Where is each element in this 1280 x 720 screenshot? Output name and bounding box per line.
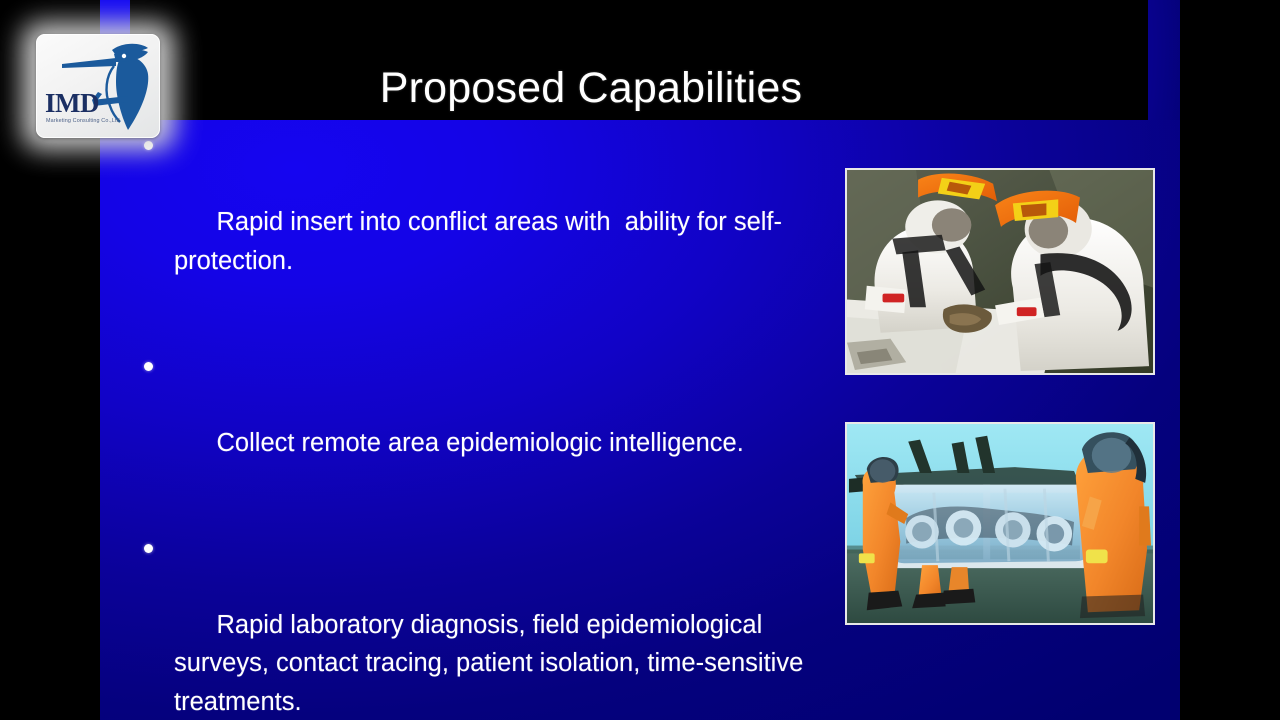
list-item-text: Rapid laboratory diagnosis, field epidem… (174, 611, 810, 716)
list-item-text: Collect remote area epidemiologic intell… (217, 429, 744, 457)
photo-field-lab-image (847, 170, 1153, 373)
bullet-dot-icon (144, 544, 153, 553)
bullet-dot-icon (144, 362, 153, 371)
photo-patient-transport (845, 422, 1155, 625)
logo-tagline: Marketing Consulting Co.,Ltd (46, 118, 120, 124)
capabilities-bullet-list: Rapid insert into conflict areas with ab… (122, 126, 832, 720)
presentation-slide: Proposed Capabilities Rapid insert into … (0, 0, 1280, 720)
photo-patient-transport-image (847, 424, 1153, 623)
list-item: Rapid insert into conflict areas with ab… (122, 126, 832, 319)
list-item-text: Rapid insert into conflict areas with ab… (174, 208, 782, 275)
list-item: Rapid laboratory diagnosis, field epidem… (122, 529, 832, 720)
list-item: Collect remote area epidemiologic intell… (122, 347, 832, 501)
logo-wordmark: IMD (45, 90, 99, 117)
company-logo: IMD Marketing Consulting Co.,Ltd (16, 16, 181, 156)
photo-field-lab (845, 168, 1155, 375)
panel-corner-notch (1148, 0, 1180, 120)
logo-card: IMD Marketing Consulting Co.,Ltd (36, 34, 160, 138)
